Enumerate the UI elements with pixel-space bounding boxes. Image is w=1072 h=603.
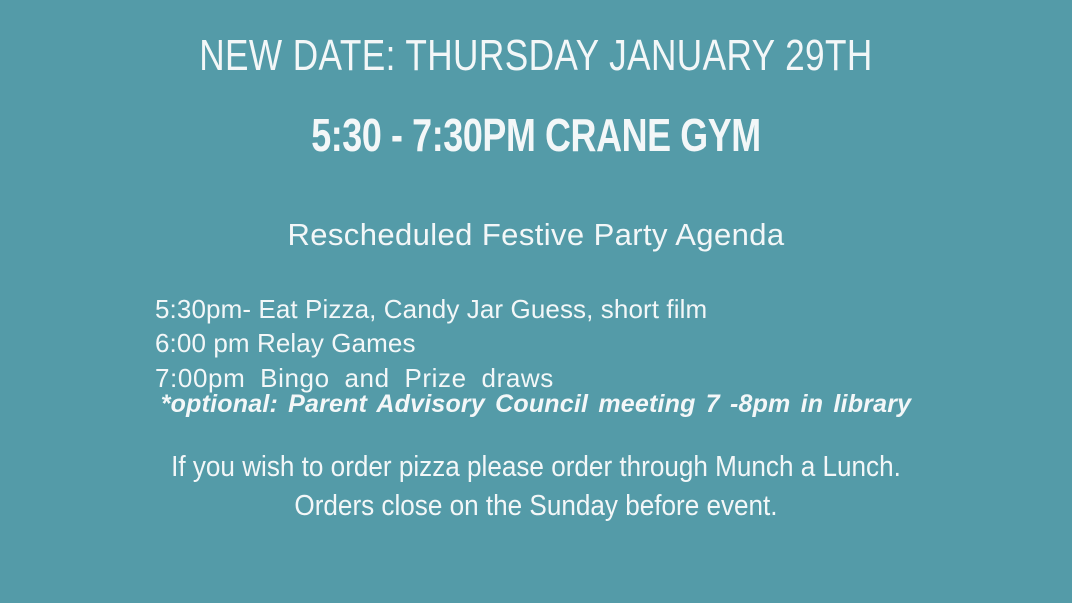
agenda-item: 5:30pm- Eat Pizza, Candy Jar Guess, shor…	[155, 292, 955, 326]
agenda-subheading: Rescheduled Festive Party Agenda	[0, 218, 1072, 252]
headline-date: NEW DATE: THURSDAY JANUARY 29TH	[107, 32, 965, 80]
optional-meeting-note: *optional: Parent Advisory Council meeti…	[0, 391, 1072, 419]
order-deadline-note: Orders close on the Sunday before event.	[54, 491, 1019, 523]
agenda-list: 5:30pm- Eat Pizza, Candy Jar Guess, shor…	[155, 292, 955, 395]
event-announcement-slide: NEW DATE: THURSDAY JANUARY 29TH 5:30 - 7…	[0, 0, 1072, 603]
pizza-order-instruction: If you wish to order pizza please order …	[54, 452, 1019, 484]
headline-time-location: 5:30 - 7:30PM CRANE GYM	[118, 110, 954, 161]
agenda-item: 6:00 pm Relay Games	[155, 326, 955, 360]
